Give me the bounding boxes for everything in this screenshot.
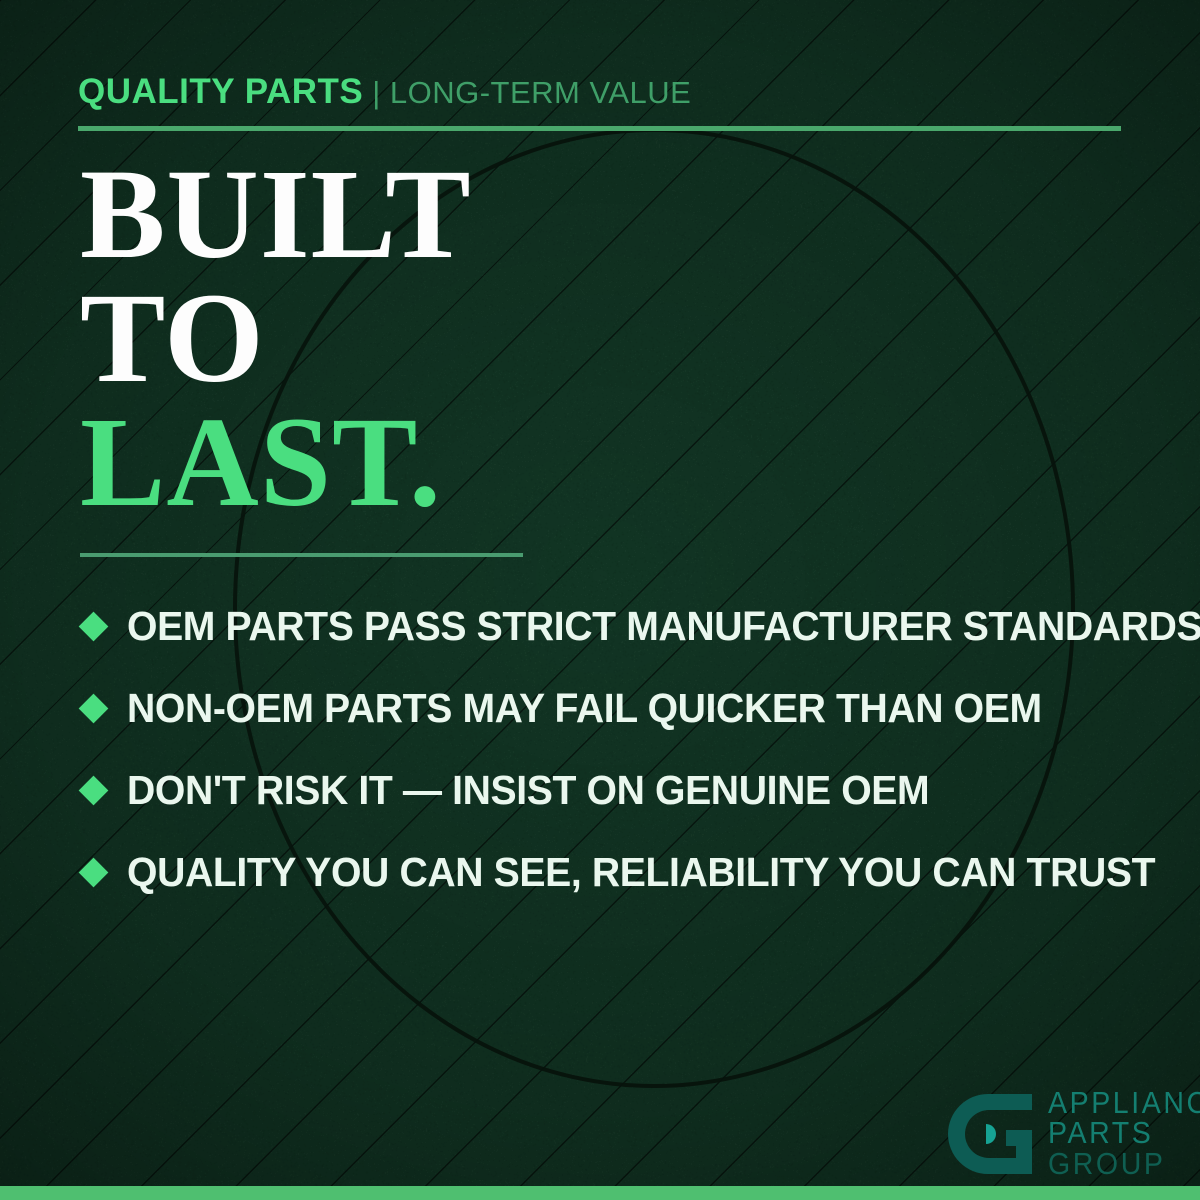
eyebrow-header: QUALITY PARTS| LONG-TERM VALUE bbox=[78, 74, 691, 109]
bottom-accent-bar bbox=[0, 1186, 1200, 1200]
list-item: NON-OEM PARTS MAY FAIL QUICKER THAN OEM bbox=[80, 667, 1160, 749]
brand-logo: APPLIANCE PARTS GROUP bbox=[948, 1088, 1200, 1183]
list-item: OEM PARTS PASS STRICT MANUFACTURER STAND… bbox=[80, 585, 1160, 667]
poster-canvas: QUALITY PARTS| LONG-TERM VALUE BUILT TO … bbox=[0, 0, 1200, 1200]
diamond-bullet-icon bbox=[79, 857, 109, 887]
logo-word-appliance: APPLIANCE bbox=[1048, 1088, 1200, 1118]
headline-line-2: TO bbox=[80, 276, 472, 400]
logo-word-parts: PARTS bbox=[1048, 1118, 1200, 1148]
g-monogram-icon bbox=[948, 1090, 1036, 1183]
list-item-label: QUALITY YOU CAN SEE, RELIABILITY YOU CAN… bbox=[127, 849, 1155, 896]
list-item-label: DON'T RISK IT — INSIST ON GENUINE OEM bbox=[127, 767, 929, 814]
poster-content: QUALITY PARTS| LONG-TERM VALUE BUILT TO … bbox=[0, 0, 1200, 1200]
list-item: DON'T RISK IT — INSIST ON GENUINE OEM bbox=[80, 749, 1160, 831]
diamond-bullet-icon bbox=[79, 775, 109, 805]
eyebrow-primary-label: QUALITY PARTS bbox=[78, 72, 363, 111]
eyebrow-secondary-label: | LONG-TERM VALUE bbox=[372, 75, 691, 110]
list-item-label: OEM PARTS PASS STRICT MANUFACTURER STAND… bbox=[127, 603, 1200, 650]
headline-block: BUILT TO LAST. bbox=[80, 152, 472, 524]
diamond-bullet-icon bbox=[79, 611, 109, 641]
logo-word-group: GROUP bbox=[1048, 1149, 1200, 1179]
header-divider-rule bbox=[78, 126, 1121, 131]
headline-line-3: LAST. bbox=[80, 400, 472, 524]
list-item-label: NON-OEM PARTS MAY FAIL QUICKER THAN OEM bbox=[127, 685, 1042, 732]
headline-divider-rule bbox=[80, 553, 523, 557]
list-item: QUALITY YOU CAN SEE, RELIABILITY YOU CAN… bbox=[80, 831, 1160, 913]
benefits-list: OEM PARTS PASS STRICT MANUFACTURER STAND… bbox=[80, 585, 1160, 913]
headline-line-1: BUILT bbox=[80, 152, 472, 276]
brand-logo-wordmark: APPLIANCE PARTS GROUP bbox=[1048, 1088, 1200, 1179]
diamond-bullet-icon bbox=[79, 693, 109, 723]
